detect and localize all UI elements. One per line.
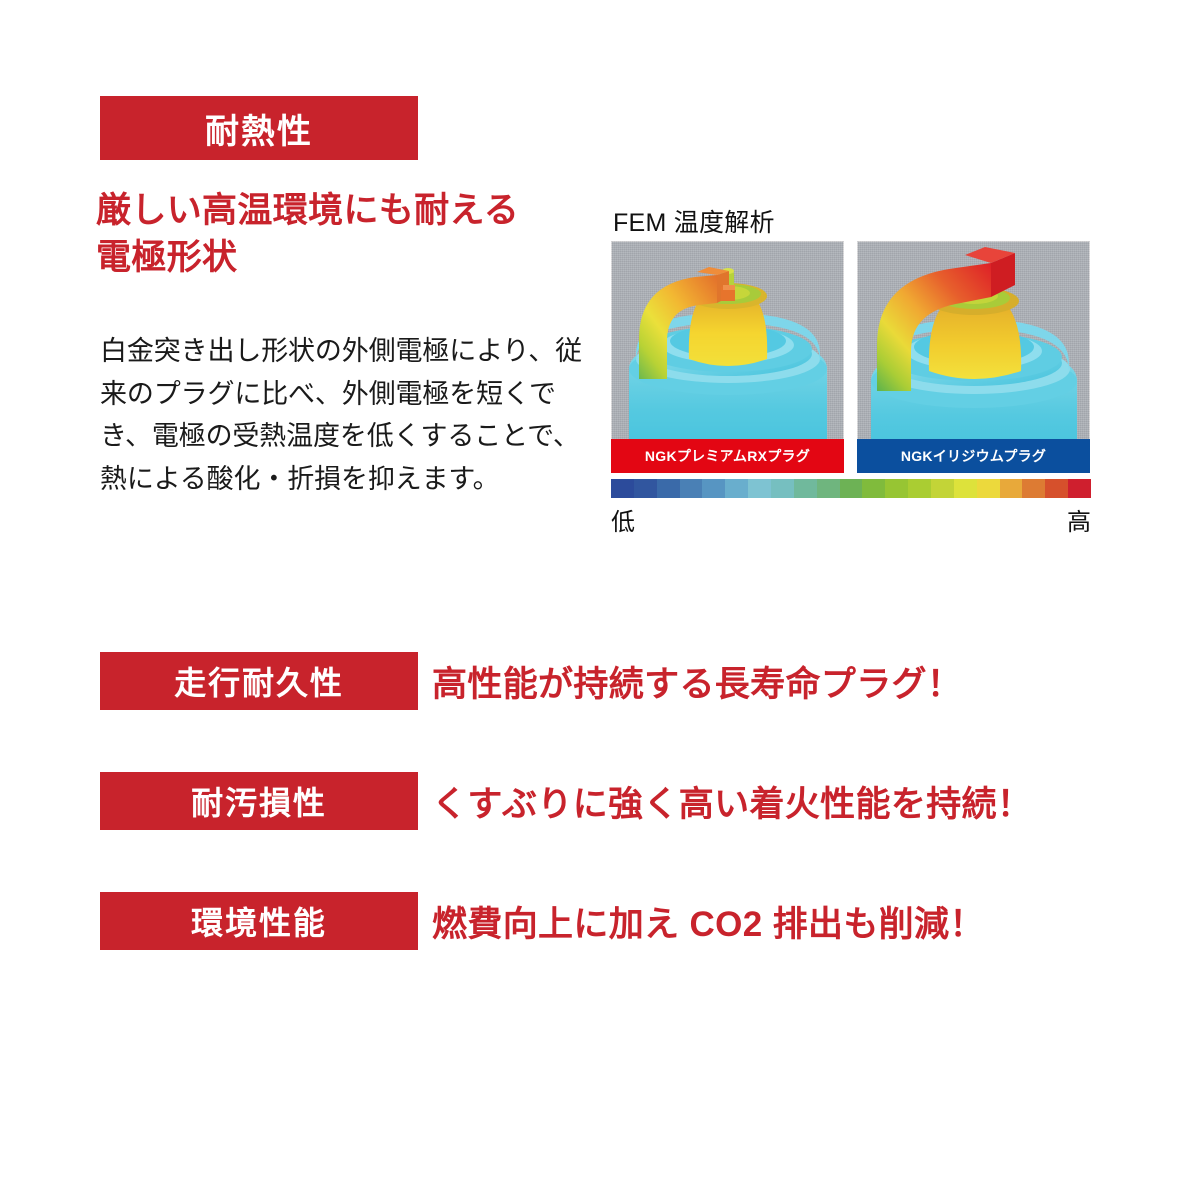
scale-swatch-9: [817, 479, 840, 498]
scale-swatch-3: [680, 479, 703, 498]
scale-swatch-11: [862, 479, 885, 498]
scale-swatch-8: [794, 479, 817, 498]
scale-swatch-13: [908, 479, 931, 498]
heat-resistance-badge: 耐熱性: [100, 96, 418, 160]
scale-swatch-10: [840, 479, 863, 498]
fem-analysis-title: FEM 温度解析: [613, 203, 775, 239]
scale-swatch-0: [611, 479, 634, 498]
scale-swatch-16: [977, 479, 1000, 498]
scale-swatch-17: [1000, 479, 1023, 498]
scale-swatch-4: [702, 479, 725, 498]
fem-analysis-images: NGKプレミアムRXプラグ: [611, 241, 1091, 473]
feature-row: 環境性能 燃費向上に加え CO2 排出も削減！: [100, 892, 1100, 950]
temperature-color-scale: [611, 479, 1091, 498]
heat-resistance-headline: 厳しい高温環境にも耐える電極形状: [96, 188, 596, 281]
fem-caption-premium-rx: NGKプレミアムRXプラグ: [611, 439, 844, 473]
fem-panel-premium-rx: NGKプレミアムRXプラグ: [611, 241, 844, 473]
scale-swatch-7: [771, 479, 794, 498]
feature-row: 走行耐久性 高性能が持続する長寿命プラグ！: [100, 652, 1100, 710]
scale-high-label: 高: [1067, 502, 1091, 537]
scale-swatch-2: [657, 479, 680, 498]
temperature-scale-labels: 低 高: [611, 502, 1091, 532]
fem-caption-iridium: NGKイリジウムプラグ: [857, 439, 1090, 473]
fem-panel-iridium: NGKイリジウムプラグ: [857, 241, 1090, 473]
feature-page: 耐熱性 厳しい高温環境にも耐える電極形状 白金突き出し形状の外側電極により、従来…: [0, 0, 1200, 1200]
scale-swatch-20: [1068, 479, 1091, 498]
feature-text-environmental: 燃費向上に加え CO2 排出も削減！: [432, 892, 985, 950]
scale-swatch-15: [954, 479, 977, 498]
feature-row: 耐汚損性 くすぶりに強く高い着火性能を持続！: [100, 772, 1100, 830]
feature-text-fouling-resistance: くすぶりに強く高い着火性能を持続！: [432, 772, 1032, 830]
scale-swatch-14: [931, 479, 954, 498]
scale-swatch-12: [885, 479, 908, 498]
scale-swatch-6: [748, 479, 771, 498]
feature-badge-environmental: 環境性能: [100, 892, 418, 950]
heat-resistance-body: 白金突き出し形状の外側電極により、従来のプラグに比べ、外側電極を短くでき、電極の…: [100, 330, 592, 501]
scale-swatch-5: [725, 479, 748, 498]
feature-badge-fouling-resistance: 耐汚損性: [100, 772, 418, 830]
scale-low-label: 低: [611, 502, 635, 537]
scale-swatch-19: [1045, 479, 1068, 498]
feature-badge-durability: 走行耐久性: [100, 652, 418, 710]
feature-text-durability: 高性能が持続する長寿命プラグ！: [432, 652, 962, 710]
scale-swatch-1: [634, 479, 657, 498]
scale-swatch-18: [1022, 479, 1045, 498]
